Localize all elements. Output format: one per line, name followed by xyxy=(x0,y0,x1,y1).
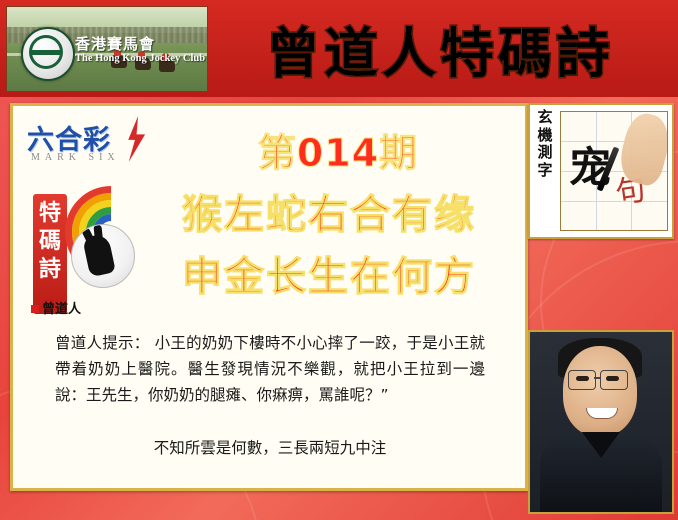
tema-char-2: 碼 xyxy=(33,228,67,256)
black-horse-head-icon xyxy=(71,224,135,288)
practice-grid-icon: 宠 句 xyxy=(560,111,668,231)
racecourse-photo: 香港賽馬會 The Hong Kong Jockey Club xyxy=(6,6,208,92)
tema-char-3: 詩 xyxy=(33,256,67,284)
org-name-en: The Hong Kong Jockey Club xyxy=(75,53,205,64)
xuanji-label: 玄機測字 xyxy=(533,109,557,180)
top-banner: 香港賽馬會 The Hong Kong Jockey Club 曾道人特碼詩 曾… xyxy=(0,0,678,97)
issue-number: 第014期 xyxy=(163,122,513,177)
horse-head-shape xyxy=(82,233,116,278)
marksix-logo: 六合彩 MARK SIX xyxy=(27,114,147,184)
grid-line xyxy=(561,201,667,202)
red-square-bullet-icon xyxy=(31,305,39,313)
body-paragraph: 曾道人提示： 小王的奶奶下樓時不小心摔了一跤，于是小王就帶着奶奶上醫院。醫生發現… xyxy=(55,330,485,408)
portrait-glasses-bridge xyxy=(594,377,601,379)
xuanji-cezi-box: 玄機測字 宠 句 xyxy=(528,103,674,239)
logo-bar xyxy=(32,50,62,55)
portrait-eye-left xyxy=(576,376,589,381)
poster-root: 香港賽馬會 The Hong Kong Jockey Club 曾道人特碼詩 曾… xyxy=(0,0,678,520)
poem-line-2: 申金长生在何方 xyxy=(143,244,515,302)
tema-char-1: 特 xyxy=(33,200,67,228)
banner-title: 曾道人特碼詩 xyxy=(210,8,670,88)
tema-vertical-title: 特 碼 詩 xyxy=(33,194,67,314)
poem-line-1: 猴左蛇右合有缘 xyxy=(143,182,515,240)
portrait-face xyxy=(563,346,637,436)
org-name-cn: 香港賽馬會 xyxy=(75,33,155,54)
man-portrait-photo xyxy=(528,330,674,514)
closing-line: 不知所雲是何數，三長兩短九中注 xyxy=(55,436,485,458)
author-label: 曾道人 xyxy=(42,302,81,317)
main-content-card: 六合彩 MARK SIX 特 碼 詩 曾道人 第014期 猴左蛇右合有缘 申金长… xyxy=(10,103,528,491)
author-credit: 曾道人 xyxy=(31,298,81,317)
xuanji-character: 宠 xyxy=(569,134,611,195)
portrait-eye-right xyxy=(606,376,619,381)
hkjc-horseshoe-icon xyxy=(21,27,75,81)
lightning-bolt-icon xyxy=(123,116,149,162)
marksix-label-en: MARK SIX xyxy=(31,152,120,163)
